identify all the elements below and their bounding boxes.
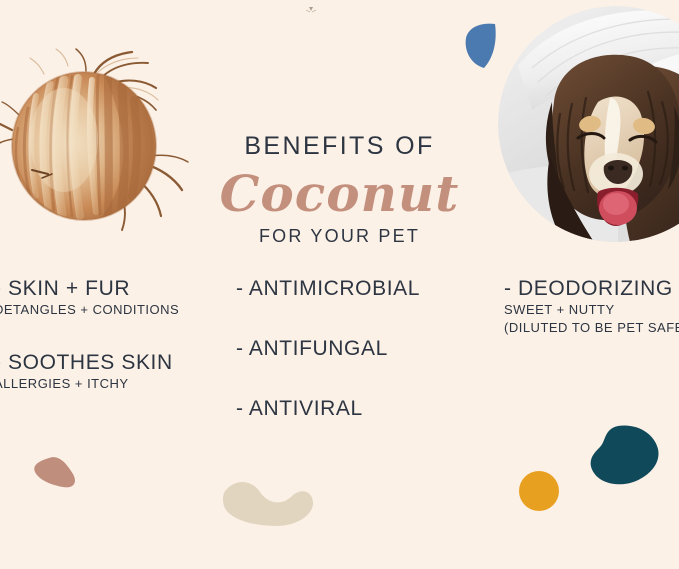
coconut-script-heading: Coconut (0, 168, 679, 221)
benefit-item: - ANTIMICROBIAL (236, 278, 436, 300)
headline-block: BENEFITS OF Coconut FOR YOUR PET (0, 134, 679, 245)
benefit-subtitle: SWEET + NUTTY (504, 302, 679, 318)
benefit-subtitle: DETANGLES + CONDITIONS (0, 302, 222, 318)
benefit-subtitle: ALLERGIES + ITCHY (0, 376, 222, 392)
benefit-title: - ANTIMICROBIAL (236, 278, 436, 300)
blue-crescent-shape (464, 22, 498, 70)
for-your-pet-subheading: FOR YOUR PET (0, 227, 679, 245)
benefit-title: - SKIN + FUR (0, 278, 222, 300)
benefit-column-left: - SKIN + FUR DETANGLES + CONDITIONS - SO… (0, 278, 222, 421)
benefits-of-heading: BENEFITS OF (0, 134, 679, 159)
benefit-column-middle: - ANTIMICROBIAL - ANTIFUNGAL - ANTIVIRAL (236, 278, 436, 450)
benefit-title: - SOOTHES SKIN (0, 352, 222, 374)
teal-blob-shape (588, 425, 660, 487)
benefit-title: - ANTIFUNGAL (236, 338, 436, 360)
benefit-column-right: - DEODORIZING SWEET + NUTTY (DILUTED TO … (504, 278, 679, 365)
top-speck-mark (305, 0, 317, 6)
benefit-item: - SKIN + FUR DETANGLES + CONDITIONS (0, 278, 222, 318)
benefit-item: - ANTIVIRAL (236, 398, 436, 420)
benefit-title: - ANTIVIRAL (236, 398, 436, 420)
beige-crescent-shape (222, 480, 314, 527)
benefit-item: - ANTIFUNGAL (236, 338, 436, 360)
orange-circle-shape (518, 470, 560, 512)
poster-canvas: BENEFITS OF Coconut FOR YOUR PET - SKIN … (0, 0, 679, 569)
benefit-item: - SOOTHES SKIN ALLERGIES + ITCHY (0, 352, 222, 392)
benefit-subtitle-secondary: (DILUTED TO BE PET SAFE) (504, 320, 679, 336)
benefit-title: - DEODORIZING (504, 278, 679, 300)
benefit-item: - DEODORIZING SWEET + NUTTY (DILUTED TO … (504, 278, 679, 337)
rose-blob-shape (33, 456, 78, 489)
